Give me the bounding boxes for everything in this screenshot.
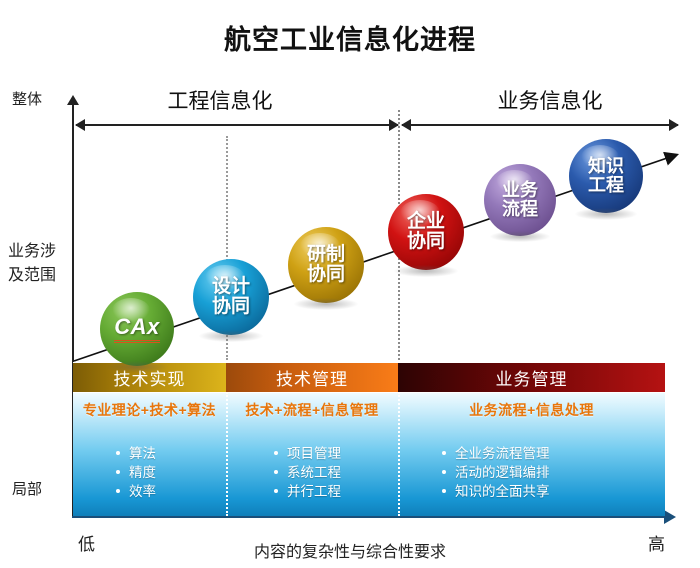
band-subtitle-business-management: 业务流程+信息处理 (398, 396, 665, 424)
node-design-collaboration[interactable]: 设计协同 (193, 259, 269, 335)
diagram-canvas: 航空工业信息化进程 整体 局部 业务涉及范围 低 高 内容的复杂性与综合性要求 … (0, 0, 700, 568)
node-label: 企业协同 (407, 212, 445, 252)
x-axis-title: 内容的复杂性与综合性要求 (0, 538, 700, 562)
list-item: 全业务流程管理 (440, 444, 550, 463)
page-title: 航空工业信息化进程 (0, 18, 700, 57)
y-axis-bottom-label: 局部 (12, 478, 42, 499)
list-item: 精度 (114, 463, 156, 482)
y-axis-top-label: 整体 (12, 88, 42, 109)
band-header-technical-management[interactable]: 技术管理 (226, 362, 398, 392)
list-item: 知识的全面共享 (440, 482, 550, 501)
node-label: 研制协同 (307, 245, 345, 285)
node-development-collaboration[interactable]: 研制协同 (288, 227, 364, 303)
list-item: 算法 (114, 444, 156, 463)
x-axis-arrowhead-icon (664, 510, 676, 524)
band-subtitle-technical-implementation: 专业理论+技术+算法 (73, 396, 226, 424)
node-label: 知识工程 (588, 157, 624, 195)
node-label: 设计协同 (212, 277, 250, 317)
node-label: 业务流程 (502, 181, 538, 219)
band-divider-line-1 (226, 392, 228, 516)
y-axis-title: 业务涉及范围 (8, 240, 64, 288)
y-axis-arrowhead-icon (67, 95, 79, 105)
list-item: 系统工程 (272, 463, 341, 482)
bullet-list-technical-implementation: 算法 精度 效率 (114, 444, 156, 501)
node-shadow (199, 330, 263, 342)
phase-label-engineering: 工程信息化 (130, 85, 310, 115)
node-cax[interactable]: CAx (100, 292, 174, 366)
list-item: 效率 (114, 482, 156, 501)
node-shadow (294, 298, 358, 310)
node-business-process[interactable]: 业务流程 (484, 164, 556, 236)
node-shadow (106, 361, 168, 373)
node-shadow (575, 208, 637, 220)
node-label: CAx (114, 315, 160, 342)
phase-label-business: 业务信息化 (460, 85, 640, 115)
list-item: 活动的逻辑编排 (440, 463, 550, 482)
band-divider-line-2 (398, 392, 400, 516)
x-axis-line (72, 516, 668, 518)
bullet-list-business-management: 全业务流程管理 活动的逻辑编排 知识的全面共享 (440, 444, 550, 501)
node-knowledge-engineering[interactable]: 知识工程 (569, 139, 643, 213)
node-enterprise-collaboration[interactable]: 企业协同 (388, 194, 464, 270)
list-item: 项目管理 (272, 444, 341, 463)
band-subtitle-technical-management: 技术+流程+信息管理 (226, 396, 398, 424)
phase-range-arrow-business (402, 124, 678, 126)
node-shadow (394, 265, 458, 277)
node-shadow (490, 231, 550, 243)
bullet-list-technical-management: 项目管理 系统工程 并行工程 (272, 444, 341, 501)
band-header-business-management[interactable]: 业务管理 (398, 362, 665, 392)
list-item: 并行工程 (272, 482, 341, 501)
phase-range-arrow-engineering (76, 124, 398, 126)
